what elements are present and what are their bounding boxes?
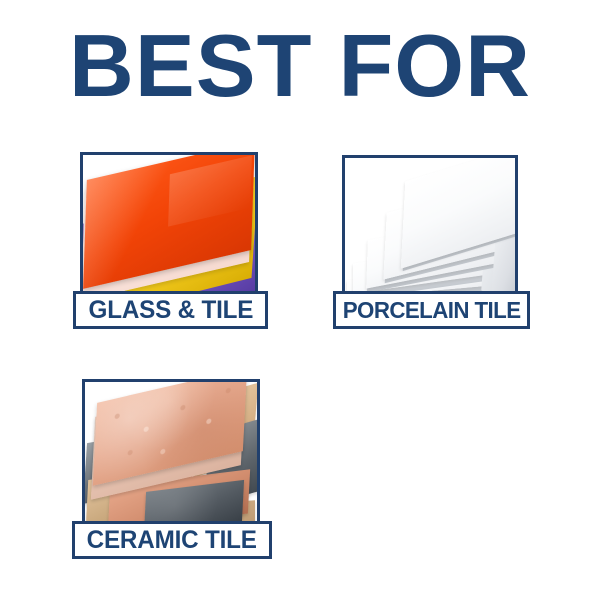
glass-tile-label: GLASS & TILE: [88, 297, 253, 323]
glass-tile-frame: [80, 152, 258, 305]
product-card-ceramic-tile[interactable]: CERAMIC TILE: [82, 379, 272, 559]
ceramic-tile-photo: [85, 382, 257, 527]
porcelain-tile-label-plate: PORCELAIN TILE: [333, 291, 530, 329]
best-for-infographic: BEST FOR GLASS & TILE: [0, 0, 600, 600]
ceramic-tile-label-plate: CERAMIC TILE: [72, 521, 272, 559]
glass-tile-label-plate: GLASS & TILE: [73, 291, 268, 329]
ceramic-tile-label: CERAMIC TILE: [87, 527, 257, 553]
product-card-glass-tile[interactable]: GLASS & TILE: [80, 152, 270, 332]
porcelain-tile-photo: [345, 158, 515, 302]
porcelain-tile-frame: [342, 155, 518, 305]
page-title: BEST FOR: [0, 18, 600, 114]
porcelain-tile-label: PORCELAIN TILE: [343, 297, 521, 323]
glass-tile-photo: [83, 155, 255, 302]
product-card-porcelain-tile[interactable]: PORCELAIN TILE: [342, 155, 532, 335]
ceramic-tile-frame: [82, 379, 260, 530]
